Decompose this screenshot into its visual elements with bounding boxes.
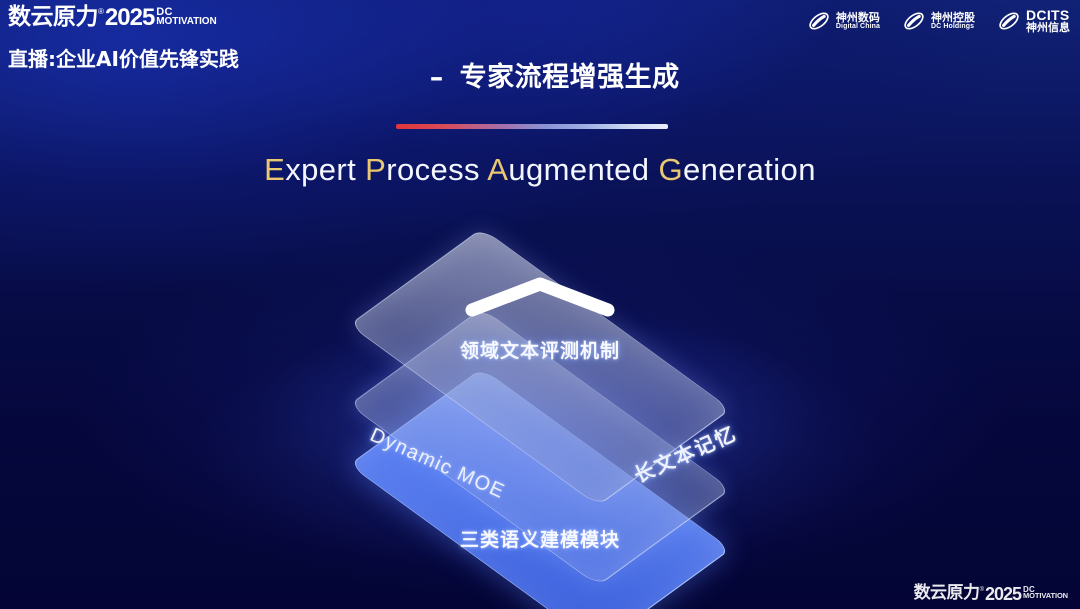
slide-title: EPAG – 专家流程增强生成 <box>333 55 680 94</box>
watermark-dc-motivation: DC MOTIVATION <box>1023 586 1068 600</box>
partner-logo-text: 神州控股 DC Holdings <box>931 12 975 30</box>
subtitle-rest: rocess <box>386 152 480 187</box>
brand-registered-mark: ® <box>98 8 104 16</box>
watermark-name-cn: 数云原力 <box>914 585 980 602</box>
partner-name-cn: 神州数码 <box>836 12 880 23</box>
subtitle-word-augmented: Augmented <box>487 152 649 187</box>
brand-motivation-text: MOTIVATION <box>156 17 216 26</box>
subtitle-initial: E <box>264 152 285 187</box>
subtitle-rest: eneration <box>683 152 816 187</box>
brand-name-cn: 数云原力 <box>8 6 98 29</box>
subtitle-initial: G <box>658 152 683 187</box>
slide-title-dash: – <box>424 62 450 93</box>
partner-name-cn: 神州控股 <box>931 12 975 23</box>
partner-logo-dc-holdings: 神州控股 DC Holdings <box>902 9 975 33</box>
subtitle-word-process: Process <box>365 152 480 187</box>
slide-title-acronym: EPAG <box>333 62 414 93</box>
watermark-logo: 数云原力 ® 2025 DC MOTIVATION <box>914 585 1068 603</box>
subtitle-word-expert: Expert <box>264 152 356 187</box>
partner-logo-bar: 神州数码 Digital China 神州控股 DC Holdings <box>807 8 1070 33</box>
partner-name-cn: 神州信息 <box>1026 22 1070 33</box>
partner-logo-text: DCITS 神州信息 <box>1026 8 1070 33</box>
watermark-motivation-text: MOTIVATION <box>1023 593 1068 600</box>
subtitle-word-generation: Generation <box>658 152 815 187</box>
header-left: 数云原力 ® 2025 DC MOTIVATION 直播:企业AI价值先锋实践 <box>8 6 239 72</box>
watermark-year: 2025 <box>985 585 1021 603</box>
swirl-icon <box>902 9 926 33</box>
swirl-icon <box>997 9 1021 33</box>
subtitle-initial: A <box>487 152 508 187</box>
subtitle-rest: xpert <box>285 152 356 187</box>
subtitle-initial: P <box>365 152 386 187</box>
brand-dc-motivation: DC MOTIVATION <box>156 7 216 26</box>
slide-subtitle: Expert Process Augmented Generation <box>0 152 1080 188</box>
subtitle-rest: ugmented <box>508 152 649 187</box>
diagram-label-top: 领域文本评测机制 <box>305 336 775 363</box>
chevron-up-icon <box>462 274 618 318</box>
isometric-layer-diagram: 领域文本评测机制 Dynamic MOE 长文本记忆 三类语义建模模块 <box>305 238 775 568</box>
partner-name-en: DC Holdings <box>931 23 975 30</box>
swirl-icon <box>807 9 831 33</box>
brand-year: 2025 <box>105 6 154 30</box>
live-stream-tag: 直播:企业AI价值先锋实践 <box>8 43 239 72</box>
diagram-label-bottom: 三类语义建模模块 <box>305 525 775 552</box>
watermark-registered-mark: ® <box>980 587 984 593</box>
partner-logo-text: 神州数码 Digital China <box>836 12 880 30</box>
partner-logo-digital-china: 神州数码 Digital China <box>807 9 880 33</box>
gradient-divider <box>396 124 668 129</box>
partner-name-en: Digital China <box>836 23 880 30</box>
slide-title-cn: 专家流程增强生成 <box>460 62 680 93</box>
slide-canvas: 数云原力 ® 2025 DC MOTIVATION 直播:企业AI价值先锋实践 … <box>0 0 1080 609</box>
brand-logo: 数云原力 ® 2025 DC MOTIVATION <box>8 6 239 30</box>
partner-logo-dcits: DCITS 神州信息 <box>997 8 1070 33</box>
